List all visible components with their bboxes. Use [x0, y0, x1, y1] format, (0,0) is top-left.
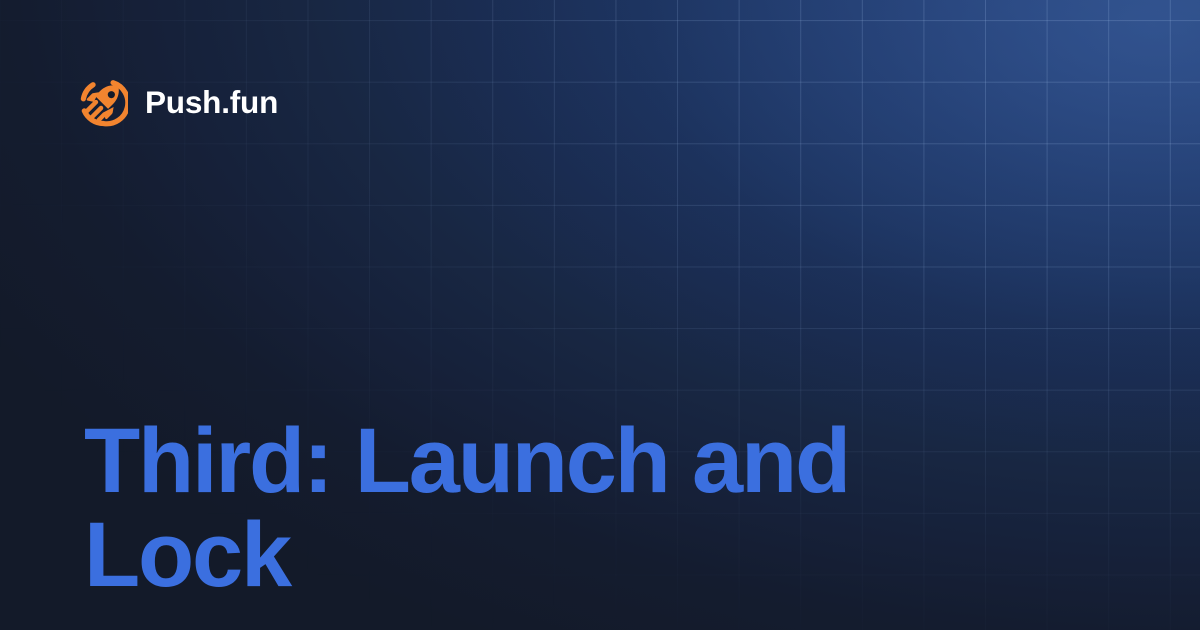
- rocket-logo-icon: [79, 78, 128, 127]
- brand-lockup: Push.fun: [79, 78, 278, 127]
- og-share-card: Push.fun Third: Launch and Lock: [0, 0, 1200, 630]
- page-title: Third: Launch and Lock: [84, 414, 984, 602]
- brand-name: Push.fun: [145, 87, 278, 119]
